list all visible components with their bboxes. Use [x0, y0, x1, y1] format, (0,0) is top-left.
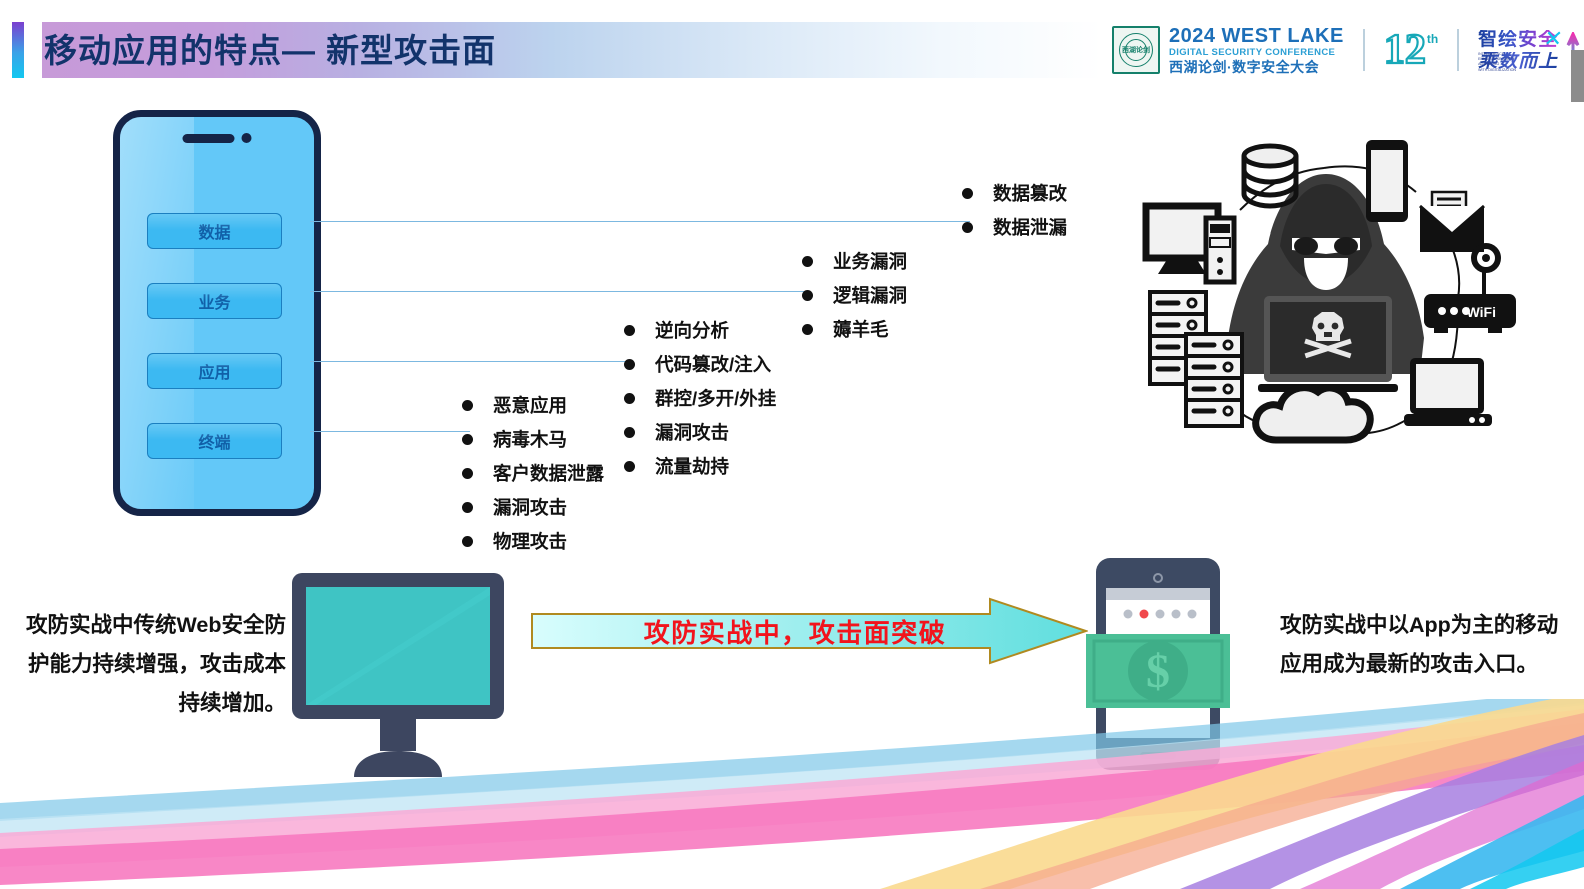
- threat-label: 病毒木马: [493, 426, 567, 452]
- stack-layer-data[interactable]: 数据: [147, 213, 282, 249]
- slogan-english: INTELLIGENCEENHANCE SECURITYADVANCINGWIT…: [1478, 52, 1516, 74]
- bullet-dot-icon: [962, 222, 973, 233]
- dollar-symbol: $: [1146, 645, 1170, 698]
- logo-line-1: 2024 WEST LAKE: [1169, 26, 1344, 46]
- list-item: 客户数据泄露: [462, 456, 604, 490]
- list-item: 薅羊毛: [802, 312, 907, 346]
- threat-label: 恶意应用: [493, 392, 567, 418]
- threat-label: 逆向分析: [655, 317, 729, 343]
- threat-label: 客户数据泄露: [493, 460, 604, 486]
- wifi-router-icon: WiFi: [1424, 246, 1516, 333]
- page-title: 移动应用的特点— 新型攻击面: [44, 28, 496, 74]
- decorative-waves: [0, 699, 1584, 889]
- stack-layer-label: 业务: [198, 289, 230, 313]
- list-item: 代码篡改/注入: [624, 347, 776, 381]
- edition-number: 12: [1384, 29, 1426, 71]
- bullet-dot-icon: [462, 434, 473, 445]
- stack-layer-application[interactable]: 应用: [147, 353, 282, 389]
- bullet-dot-icon: [624, 359, 635, 370]
- laptop-icon: [1404, 358, 1492, 426]
- connector-app: [310, 361, 632, 362]
- arrow-label: 攻防实战中，攻击面突破: [560, 606, 1030, 656]
- list-item: 恶意应用: [462, 388, 604, 422]
- bullet-dot-icon: [624, 325, 635, 336]
- list-item: 物理攻击: [462, 524, 604, 558]
- threat-group-application: 逆向分析 代码篡改/注入 群控/多开/外挂 漏洞攻击 流量劫持: [624, 313, 776, 483]
- threat-group-terminal: 恶意应用 病毒木马 客户数据泄露 漏洞攻击 物理攻击: [462, 388, 604, 558]
- left-caption: 攻防实战中传统Web安全防护能力持续增强，攻击成本持续增加。: [12, 606, 286, 723]
- server-rack-icon: [1186, 334, 1242, 426]
- stack-layer-label: 数据: [198, 219, 230, 243]
- threat-label: 数据篡改: [993, 180, 1067, 206]
- edition-suffix: th: [1427, 32, 1438, 46]
- bullet-dot-icon: [624, 427, 635, 438]
- bullet-dot-icon: [624, 393, 635, 404]
- smartphone-with-banknote-icon: $: [1084, 556, 1232, 772]
- list-item: 逆向分析: [624, 313, 776, 347]
- threat-label: 群控/多开/外挂: [655, 385, 776, 411]
- threat-label: 漏洞攻击: [493, 494, 567, 520]
- slogan-x-icon: ✕: [1542, 28, 1564, 50]
- slide-canvas: 移动应用的特点— 新型攻击面 西湖论剑 2024 WEST LAKE DIGIT…: [0, 0, 1584, 889]
- cloud-icon: [1256, 388, 1371, 440]
- bullet-dot-icon: [624, 461, 635, 472]
- conference-seal-icon: 西湖论剑: [1112, 26, 1160, 74]
- title-accent-bar: [12, 22, 24, 78]
- phone-speaker-icon: [183, 133, 252, 143]
- bullet-dot-icon: [962, 188, 973, 199]
- threat-group-data: 数据篡改 数据泄漏: [962, 176, 1067, 244]
- connector-data: [310, 221, 970, 222]
- bullet-dot-icon: [802, 290, 813, 301]
- email-envelope-icon: [1420, 192, 1484, 252]
- list-item: 漏洞攻击: [624, 415, 776, 449]
- bullet-dot-icon: [462, 502, 473, 513]
- stack-layer-label: 终端: [198, 429, 230, 453]
- list-item: 业务漏洞: [802, 244, 907, 278]
- scrollbar-thumb[interactable]: [1571, 50, 1584, 102]
- bullet-dot-icon: [802, 256, 813, 267]
- desktop-monitor-icon: [292, 565, 504, 777]
- threat-label: 流量劫持: [655, 453, 729, 479]
- list-item: 流量劫持: [624, 449, 776, 483]
- router-label: WiFi: [1467, 304, 1496, 320]
- banknote-icon: $: [1086, 634, 1230, 708]
- threat-label: 业务漏洞: [833, 248, 907, 274]
- threat-label: 漏洞攻击: [655, 419, 729, 445]
- conference-logo: 西湖论剑 2024 WEST LAKE DIGITAL SECURITY CON…: [1112, 24, 1558, 76]
- phone-speaker-bar: [183, 134, 235, 143]
- threat-group-business: 业务漏洞 逻辑漏洞 薅羊毛: [802, 244, 907, 346]
- right-caption: 攻防实战中以App为主的移动应用成为最新的攻击入口。: [1280, 606, 1572, 684]
- connector-business: [310, 291, 810, 292]
- threat-label: 逻辑漏洞: [833, 282, 907, 308]
- list-item: 病毒木马: [462, 422, 604, 456]
- mobile-app-stack-diagram: 数据 业务 应用 终端: [113, 110, 321, 516]
- edition-badge: 12 th: [1384, 29, 1438, 71]
- conference-wordmark: 2024 WEST LAKE DIGITAL SECURITY CONFEREN…: [1169, 26, 1344, 75]
- logo-line-3: 西湖论剑·数字安全大会: [1169, 60, 1344, 74]
- list-item: 数据泄漏: [962, 210, 1067, 244]
- bullet-dot-icon: [462, 468, 473, 479]
- list-item: 群控/多开/外挂: [624, 381, 776, 415]
- threat-label: 物理攻击: [493, 528, 567, 554]
- seal-text: 西湖论剑: [1114, 28, 1158, 72]
- threat-label: 数据泄漏: [993, 214, 1067, 240]
- desktop-computer-icon: [1146, 206, 1234, 282]
- phone-camera-dot: [242, 133, 252, 143]
- stack-layer-business[interactable]: 业务: [147, 283, 282, 319]
- stack-layer-terminal[interactable]: 终端: [147, 423, 282, 459]
- logo-divider-2: [1457, 29, 1459, 71]
- threat-label: 薅羊毛: [833, 316, 889, 342]
- hacker-threat-network-illustration: WiFi: [1128, 112, 1558, 462]
- threat-label: 代码篡改/注入: [655, 351, 771, 377]
- logo-line-2: DIGITAL SECURITY CONFERENCE: [1169, 48, 1344, 58]
- connector-terminal: [310, 431, 470, 432]
- conference-slogan: 智绘安全 乘数而上 INTELLIGENCEENHANCE SECURITYAD…: [1478, 30, 1558, 71]
- logo-divider-1: [1363, 29, 1365, 71]
- stack-layer-label: 应用: [198, 359, 230, 383]
- list-item: 数据篡改: [962, 176, 1067, 210]
- list-item: 逻辑漏洞: [802, 278, 907, 312]
- bullet-dot-icon: [462, 400, 473, 411]
- list-item: 漏洞攻击: [462, 490, 604, 524]
- bullet-dot-icon: [462, 536, 473, 547]
- smartphone-icon: [1366, 140, 1408, 222]
- bullet-dot-icon: [802, 324, 813, 335]
- laptop-icon: [1258, 296, 1398, 392]
